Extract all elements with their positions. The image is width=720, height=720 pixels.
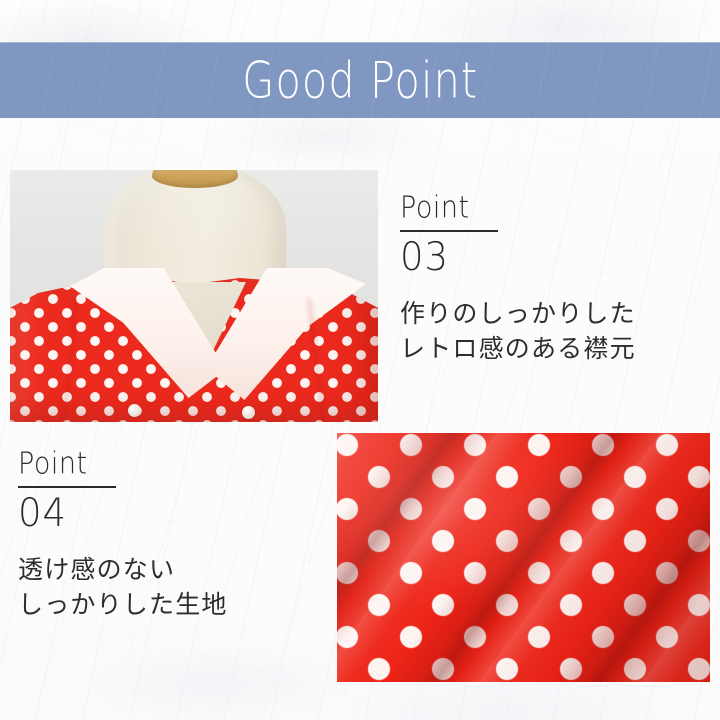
point-block-04: Point 04 透け感のない しっかりした生地	[18, 452, 318, 623]
point-description-03-line2: レトロ感のある襟元	[400, 331, 700, 367]
point-block-03: Point 03 作りのしっかりした レトロ感のある襟元	[400, 196, 700, 367]
dress-button-upper	[128, 404, 141, 417]
page-background: Good Point Point 03 作りのしっかりした レトロ感のある襟元 …	[0, 0, 720, 720]
header-banner: Good Point	[0, 42, 720, 118]
point-description-04-line1: 透け感のない	[18, 555, 175, 584]
point-number-04: 04	[18, 493, 67, 532]
point-rule-04	[18, 486, 116, 488]
point-number-03: 03	[400, 237, 449, 276]
point-rule-03	[400, 230, 498, 232]
point-label-04: Point	[18, 449, 88, 479]
point-description-04: 透け感のない しっかりした生地	[18, 552, 318, 623]
point-description-03: 作りのしっかりした レトロ感のある襟元	[400, 296, 700, 367]
fabric-closeup-photo	[337, 433, 710, 682]
point-label-03: Point	[400, 193, 470, 223]
collar-detail-photo	[10, 170, 378, 422]
point-description-03-line1: 作りのしっかりした	[400, 299, 636, 328]
dress-button-lower	[242, 406, 255, 419]
page-title: Good Point	[242, 55, 478, 105]
point-description-04-line2: しっかりした生地	[18, 587, 318, 623]
